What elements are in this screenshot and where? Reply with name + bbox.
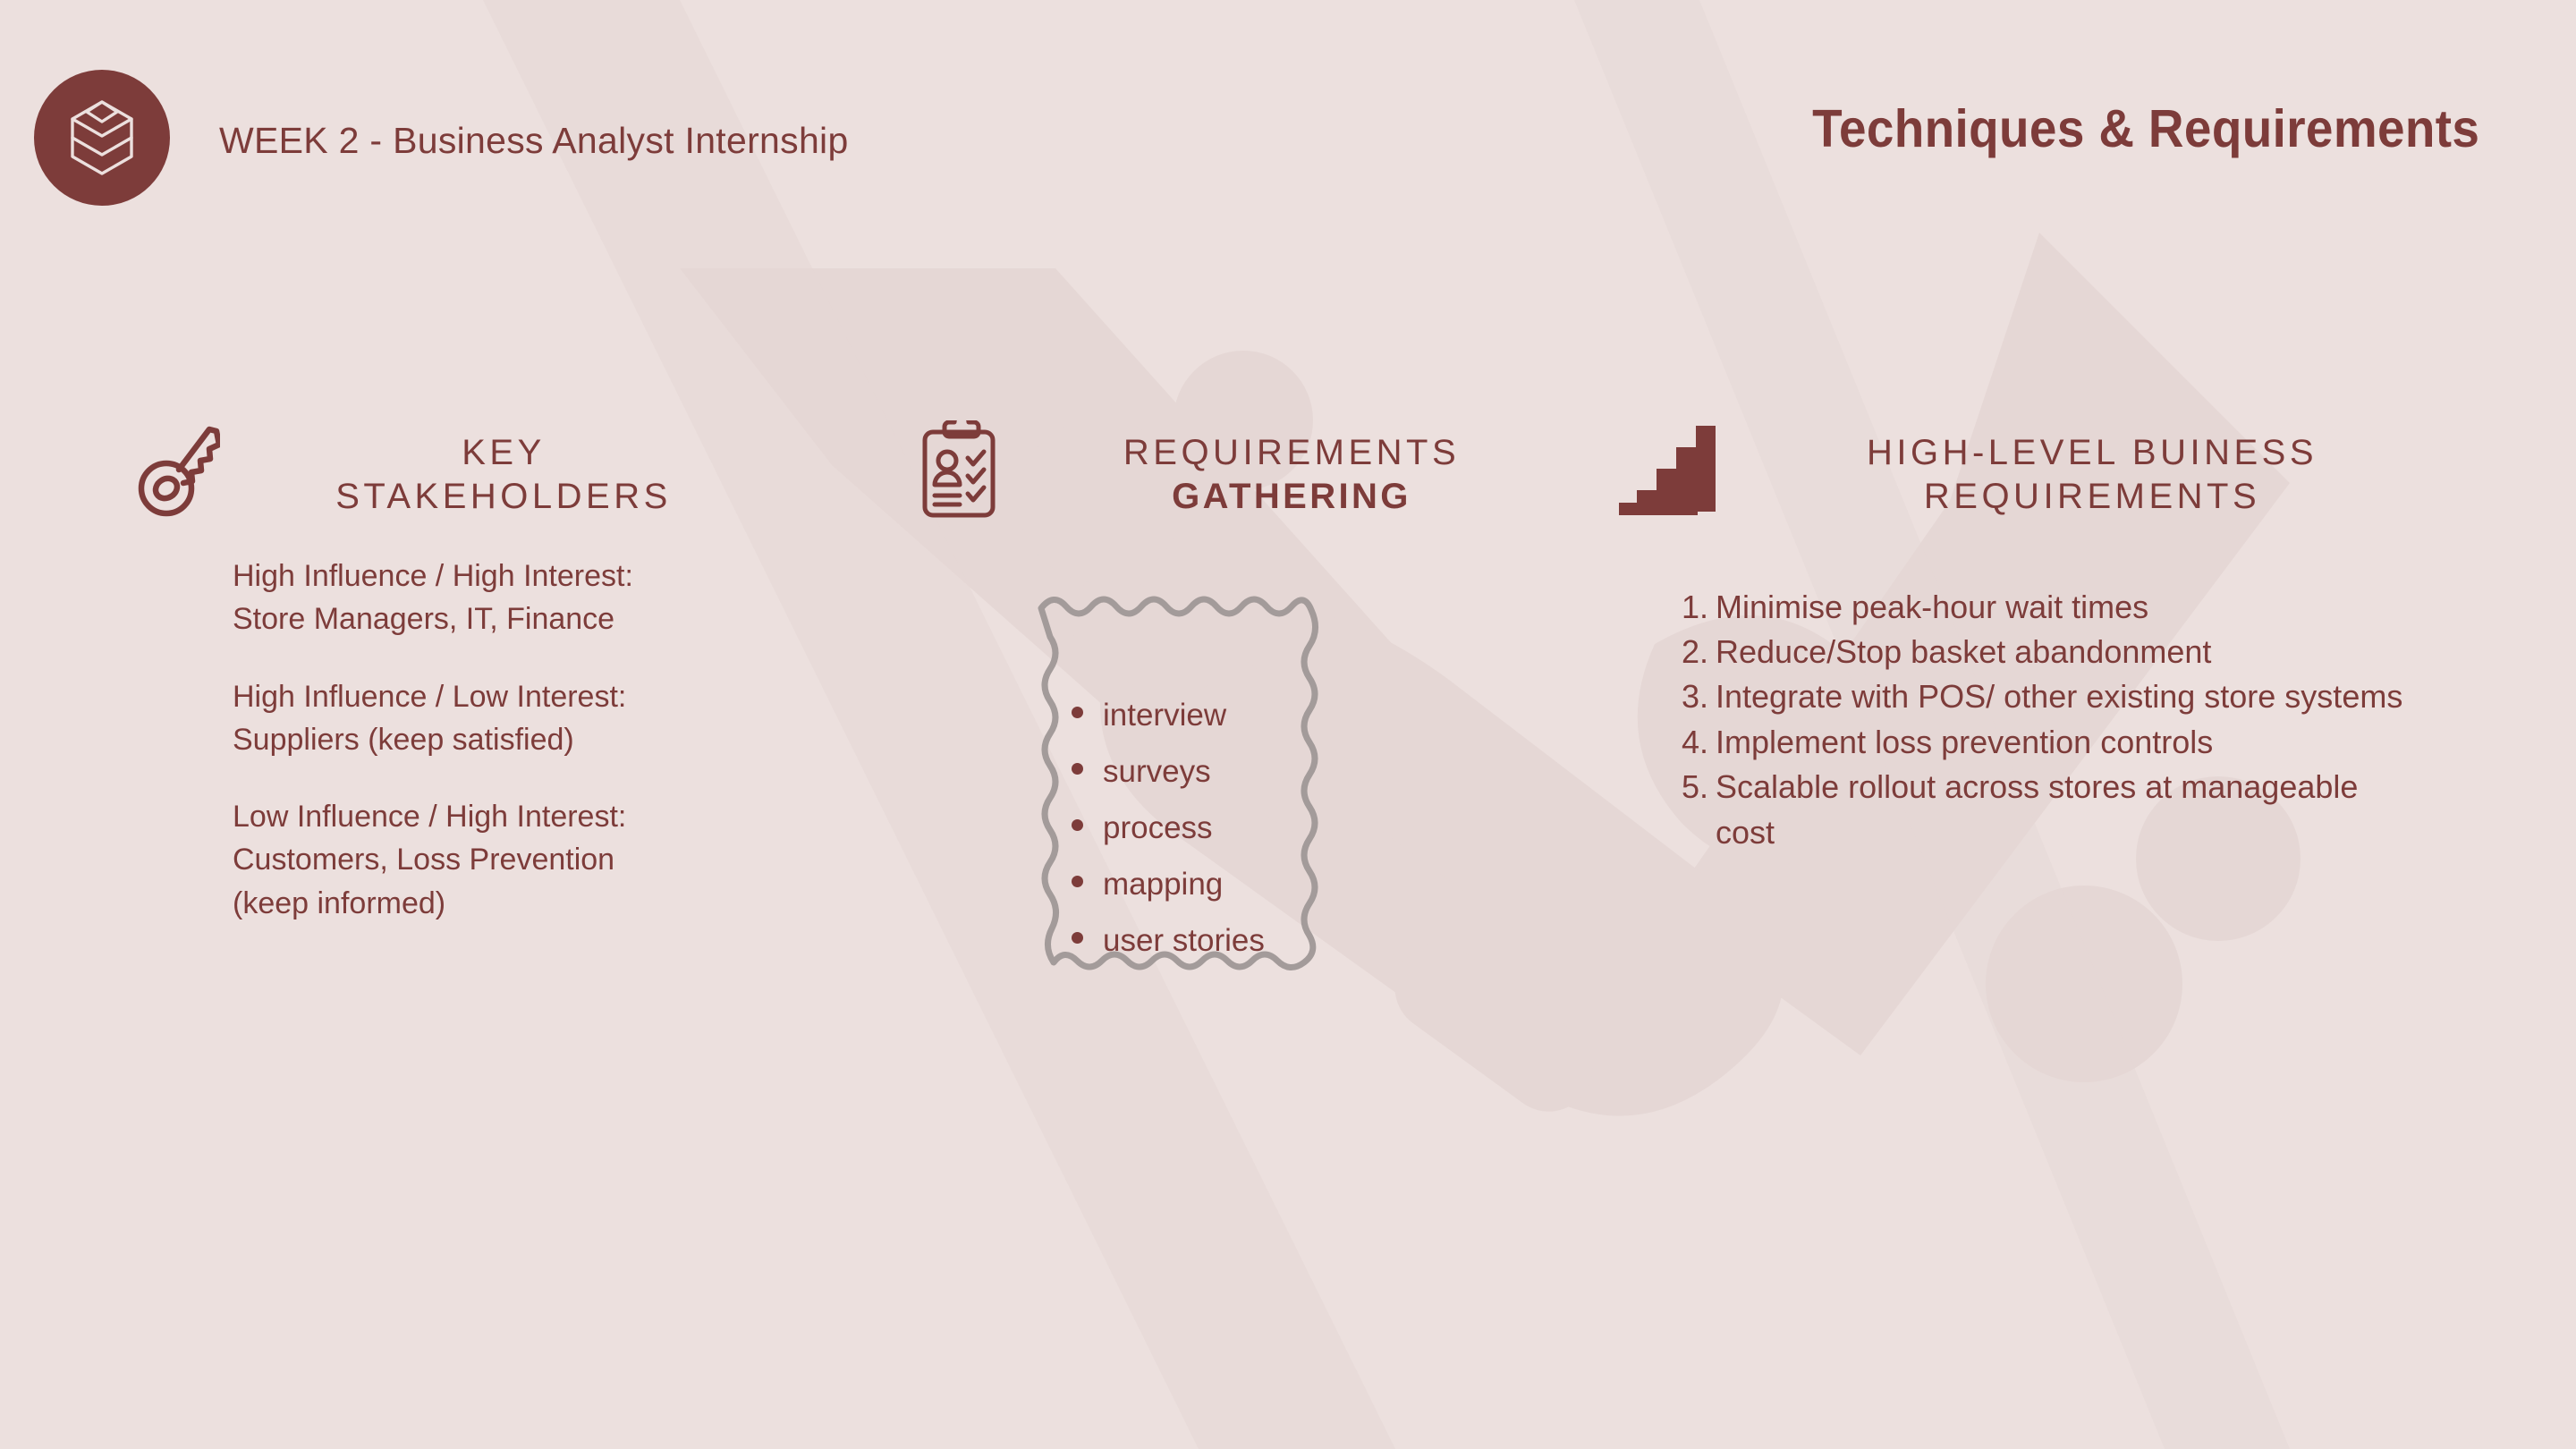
heading-line-2: REQUIREMENTS bbox=[1742, 475, 2442, 519]
technique-label: process bbox=[1103, 812, 1213, 843]
section-requirements-gathering: REQUIREMENTS GATHERING interview surveys… bbox=[921, 420, 1565, 1014]
stakeholder-group: Low Influence / High Interest: Customers… bbox=[233, 795, 778, 925]
section-heading-requirements-gathering: REQUIREMENTS GATHERING bbox=[921, 420, 1565, 519]
stakeholder-group-label: High Influence / High Interest: bbox=[233, 555, 778, 597]
section-heading-high-level-requirements: HIGH-LEVEL BUINESS REQUIREMENTS bbox=[1619, 420, 2442, 519]
techniques-wavy-card: interview surveys process mapping user s… bbox=[1029, 585, 1342, 1014]
bullet-icon bbox=[1072, 707, 1083, 718]
stakeholder-group-names: Store Managers, IT, Finance bbox=[233, 597, 778, 640]
heading-text: KEY STAKEHOLDERS bbox=[220, 420, 778, 519]
heading-line-2: STAKEHOLDERS bbox=[229, 475, 778, 519]
stakeholder-group-names: Suppliers (keep satisfied) bbox=[233, 718, 778, 761]
requirement-number: 3. bbox=[1682, 674, 1716, 719]
technique-item: interview bbox=[1072, 699, 1265, 731]
stairs-icon bbox=[1619, 420, 1716, 515]
bullet-icon bbox=[1072, 876, 1083, 887]
technique-item: process bbox=[1072, 812, 1265, 843]
section-key-stakeholders: KEY STAKEHOLDERS High Influence / High I… bbox=[134, 420, 778, 925]
requirement-item: 5. Scalable rollout across stores at man… bbox=[1682, 765, 2442, 855]
techniques-list: interview surveys process mapping user s… bbox=[1072, 699, 1265, 956]
stakeholder-group-label: Low Influence / High Interest: bbox=[233, 795, 778, 838]
clipboard-checklist-icon bbox=[921, 420, 996, 519]
heading-text: REQUIREMENTS GATHERING bbox=[996, 420, 1565, 519]
section-heading-key-stakeholders: KEY STAKEHOLDERS bbox=[134, 420, 778, 519]
header-subtitle: WEEK 2 - Business Analyst Internship bbox=[219, 120, 849, 162]
heading-line-2: GATHERING bbox=[1018, 475, 1565, 519]
stakeholder-group-list: High Influence / High Interest: Store Ma… bbox=[134, 555, 778, 925]
requirement-item: 4. Implement loss prevention controls bbox=[1682, 720, 2442, 765]
bullet-icon bbox=[1072, 763, 1083, 775]
requirement-text: Reduce/Stop basket abandonment bbox=[1716, 630, 2422, 674]
requirement-number: 5. bbox=[1682, 765, 1716, 809]
technique-item: surveys bbox=[1072, 756, 1265, 787]
layered-cube-logo-icon bbox=[67, 99, 137, 176]
requirement-text: Minimise peak-hour wait times bbox=[1716, 585, 2422, 630]
technique-item: user stories bbox=[1072, 925, 1265, 956]
logo-badge[interactable] bbox=[34, 70, 170, 206]
bullet-icon bbox=[1072, 819, 1083, 831]
requirement-text: Implement loss prevention controls bbox=[1716, 720, 2422, 765]
stakeholder-group-names: Customers, Loss Prevention bbox=[233, 838, 778, 881]
stakeholder-group: High Influence / High Interest: Store Ma… bbox=[233, 555, 778, 641]
requirement-item: 2. Reduce/Stop basket abandonment bbox=[1682, 630, 2442, 674]
heading-text: HIGH-LEVEL BUINESS REQUIREMENTS bbox=[1716, 420, 2442, 519]
business-requirements-list: 1. Minimise peak-hour wait times 2. Redu… bbox=[1619, 585, 2442, 855]
stakeholder-group-note: (keep informed) bbox=[233, 882, 778, 925]
heading-line-1: HIGH-LEVEL BUINESS bbox=[1742, 431, 2442, 475]
requirement-number: 1. bbox=[1682, 585, 1716, 630]
page-title: Techniques & Requirements bbox=[1812, 98, 2479, 159]
bullet-icon bbox=[1072, 932, 1083, 944]
technique-label: interview bbox=[1103, 699, 1226, 731]
heading-line-1: KEY bbox=[229, 431, 778, 475]
heading-line-1: REQUIREMENTS bbox=[1018, 431, 1565, 475]
requirement-text: Integrate with POS/ other existing store… bbox=[1716, 674, 2422, 719]
key-icon bbox=[134, 420, 220, 519]
technique-label: mapping bbox=[1103, 869, 1223, 900]
requirement-number: 2. bbox=[1682, 630, 1716, 674]
technique-label: surveys bbox=[1103, 756, 1211, 787]
technique-item: mapping bbox=[1072, 869, 1265, 900]
stakeholder-group: High Influence / Low Interest: Suppliers… bbox=[233, 675, 778, 762]
technique-label: user stories bbox=[1103, 925, 1265, 956]
requirement-item: 1. Minimise peak-hour wait times bbox=[1682, 585, 2442, 630]
section-high-level-requirements: HIGH-LEVEL BUINESS REQUIREMENTS 1. Minim… bbox=[1619, 420, 2442, 855]
requirement-text: Scalable rollout across stores at manage… bbox=[1716, 765, 2422, 855]
stakeholder-group-label: High Influence / Low Interest: bbox=[233, 675, 778, 718]
page-header: WEEK 2 - Business Analyst Internship Tec… bbox=[0, 0, 2576, 277]
requirement-number: 4. bbox=[1682, 720, 1716, 765]
requirement-item: 3. Integrate with POS/ other existing st… bbox=[1682, 674, 2442, 719]
